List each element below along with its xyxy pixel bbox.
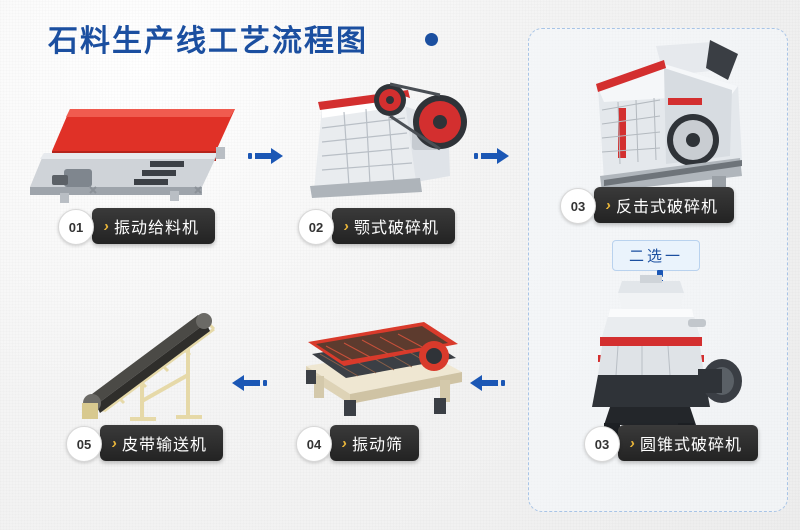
arrow-screen-to-belt	[232, 375, 267, 391]
arrow-head	[232, 375, 244, 391]
tick-icon: ›	[102, 218, 111, 235]
step-label-05: 05 › 皮带输送机	[100, 425, 223, 461]
cone-crusher-illustration	[570, 275, 760, 440]
step-number-03-impact: 03	[560, 188, 596, 224]
tick-icon: ›	[342, 218, 351, 235]
jaw-crusher-illustration	[308, 72, 468, 202]
step-number-05: 05	[66, 426, 102, 462]
arrow-dash	[248, 153, 252, 159]
vibrating-feeder-illustration	[30, 95, 260, 205]
arrow-head	[271, 148, 283, 164]
arrow-shaft	[482, 380, 498, 386]
step-title-05: 皮带输送机	[122, 431, 207, 455]
arrow-jaw-to-impact	[474, 148, 509, 164]
tick-icon: ›	[628, 435, 637, 452]
step-number-03-cone: 03	[584, 426, 620, 462]
step-label-04: 04 › 振动筛	[330, 425, 419, 461]
tick-icon: ›	[340, 435, 349, 452]
bullet-dot-icon	[425, 33, 438, 46]
arrow-feeder-to-jaw	[248, 148, 283, 164]
arrow-shaft	[244, 380, 260, 386]
vibrating-screen-illustration	[298, 310, 468, 425]
page-title: 石料生产线工艺流程图	[48, 16, 368, 60]
arrow-head	[497, 148, 509, 164]
tick-icon: ›	[110, 435, 119, 452]
arrow-cone-to-screen	[470, 375, 505, 391]
arrow-dash	[263, 380, 267, 386]
step-title-02: 颚式破碎机	[354, 214, 439, 238]
arrow-shaft	[255, 153, 271, 159]
step-title-03-cone: 圆锥式破碎机	[640, 431, 742, 455]
arrow-dash	[501, 380, 505, 386]
choose-one-badge: 二选一	[612, 240, 700, 271]
step-number-02: 02	[298, 209, 334, 245]
step-number-01: 01	[58, 209, 94, 245]
arrow-dash	[474, 153, 478, 159]
step-label-02: 02 › 颚式破碎机	[332, 208, 455, 244]
arrow-shaft	[481, 153, 497, 159]
step-title-04: 振动筛	[352, 431, 403, 455]
flowchart-canvas: 石料生产线工艺流程图	[0, 0, 800, 530]
step-label-03-impact: 03 › 反击式破碎机	[594, 187, 734, 223]
step-label-01: 01 › 振动给料机	[92, 208, 215, 244]
step-number-04: 04	[296, 426, 332, 462]
belt-conveyor-illustration	[78, 305, 218, 423]
step-title-03-impact: 反击式破碎机	[616, 193, 718, 217]
impact-crusher-illustration	[560, 40, 760, 205]
step-title-01: 振动给料机	[114, 214, 199, 238]
tick-icon: ›	[604, 197, 613, 214]
step-label-03-cone: 03 › 圆锥式破碎机	[618, 425, 758, 461]
arrow-head	[470, 375, 482, 391]
